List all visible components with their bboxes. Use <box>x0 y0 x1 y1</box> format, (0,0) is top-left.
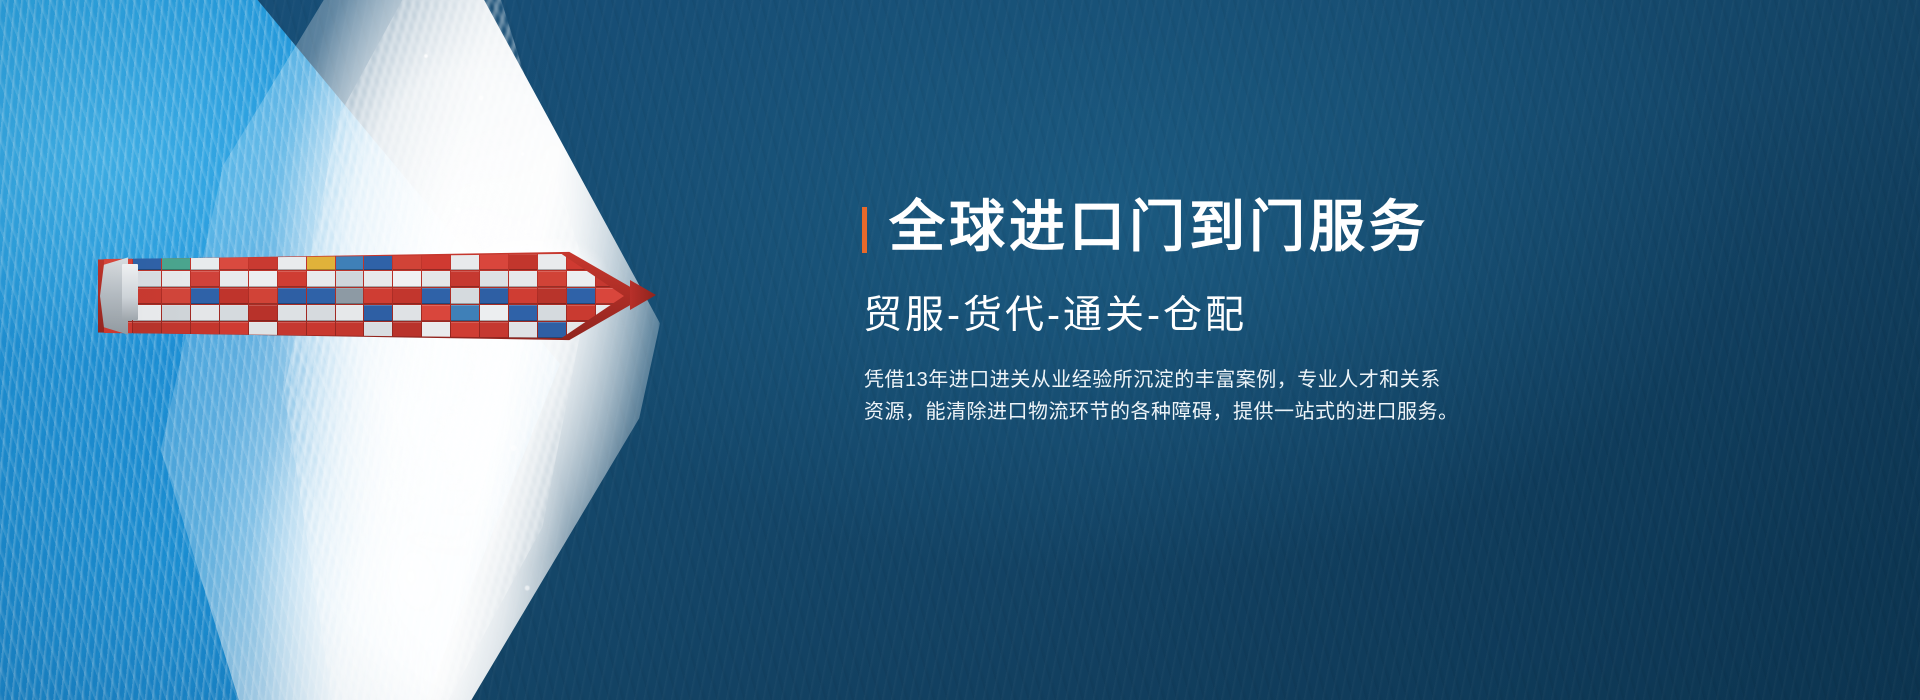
shipping-container <box>422 254 450 270</box>
container-stack <box>162 254 190 338</box>
description-line-2: 资源，能清除进口物流环节的各种障碍，提供一站式的进口服务。 <box>864 396 1562 428</box>
shipping-container <box>191 322 219 338</box>
shipping-container <box>451 305 479 321</box>
shipping-container <box>422 271 450 287</box>
shipping-container <box>336 288 364 304</box>
shipping-container <box>393 288 421 304</box>
shipping-container <box>480 288 508 304</box>
shipping-container <box>509 288 537 304</box>
shipping-container <box>220 288 248 304</box>
accent-bar <box>862 207 867 253</box>
shipping-container <box>509 271 537 287</box>
shipping-container <box>393 322 421 338</box>
shipping-container <box>364 271 392 287</box>
shipping-container <box>162 322 190 338</box>
shipping-container <box>393 254 421 270</box>
shipping-container <box>422 288 450 304</box>
shipping-container <box>364 288 392 304</box>
container-stack <box>249 254 277 338</box>
shipping-container <box>162 305 190 321</box>
shipping-container <box>220 271 248 287</box>
container-stack <box>336 254 364 338</box>
title-row: 全球进口门到门服务 <box>862 196 1562 259</box>
shipping-container <box>278 305 306 321</box>
container-stack <box>393 254 421 338</box>
shipping-container <box>220 322 248 338</box>
container-stack <box>191 254 219 338</box>
shipping-container <box>336 305 364 321</box>
shipping-container <box>278 288 306 304</box>
shipping-container <box>133 322 161 338</box>
page-description: 凭借13年进口进关从业经验所沉淀的丰富案例，专业人才和关系 资源，能清除进口物流… <box>864 364 1562 429</box>
shipping-container <box>596 254 624 270</box>
shipping-container <box>480 271 508 287</box>
shipping-container <box>220 254 248 270</box>
container-stack <box>364 254 392 338</box>
shipping-container <box>538 305 566 321</box>
shipping-container <box>249 305 277 321</box>
shipping-container <box>162 288 190 304</box>
container-stack <box>538 254 566 338</box>
shipping-container <box>393 305 421 321</box>
shipping-container <box>336 271 364 287</box>
shipping-container <box>480 322 508 338</box>
hero-text-block: 全球进口门到门服务 贸服-货代-通关-仓配 凭借13年进口进关从业经验所沉淀的丰… <box>862 196 1562 428</box>
container-stack <box>422 254 450 338</box>
shipping-container <box>509 305 537 321</box>
shipping-container <box>538 288 566 304</box>
shipping-container <box>162 271 190 287</box>
shipping-container <box>480 305 508 321</box>
shipping-container <box>538 271 566 287</box>
container-ship <box>98 248 646 344</box>
container-stack <box>451 254 479 338</box>
container-stack <box>509 254 537 338</box>
container-stack <box>596 254 624 338</box>
shipping-container <box>567 288 595 304</box>
page-subtitle: 贸服-货代-通关-仓配 <box>863 293 1562 340</box>
container-stack <box>278 254 306 338</box>
shipping-container <box>191 305 219 321</box>
container-deck <box>104 254 624 338</box>
shipping-container <box>364 305 392 321</box>
shipping-container <box>249 271 277 287</box>
shipping-container <box>191 271 219 287</box>
shipping-container <box>451 254 479 270</box>
shipping-container <box>249 254 277 270</box>
container-stack <box>307 254 335 338</box>
container-stack <box>480 254 508 338</box>
shipping-container <box>393 271 421 287</box>
shipping-container <box>538 254 566 270</box>
hero-banner: 全球进口门到门服务 贸服-货代-通关-仓配 凭借13年进口进关从业经验所沉淀的丰… <box>0 0 1920 700</box>
shipping-container <box>422 322 450 338</box>
shipping-container <box>278 271 306 287</box>
shipping-container <box>596 322 624 338</box>
ship-wake-spray <box>380 0 610 700</box>
shipping-container <box>480 254 508 270</box>
shipping-container <box>364 254 392 270</box>
description-line-1: 凭借13年进口进关从业经验所沉淀的丰富案例，专业人才和关系 <box>864 364 1562 396</box>
shipping-container <box>509 254 537 270</box>
shipping-container <box>191 288 219 304</box>
page-title: 全球进口门到门服务 <box>889 196 1429 259</box>
container-stack <box>220 254 248 338</box>
shipping-container <box>307 271 335 287</box>
shipping-container <box>220 305 248 321</box>
shipping-container <box>538 322 566 338</box>
shipping-container <box>451 288 479 304</box>
shipping-container <box>509 322 537 338</box>
shipping-container <box>249 322 277 338</box>
shipping-container <box>162 254 190 270</box>
shipping-container <box>307 305 335 321</box>
shipping-container <box>249 288 277 304</box>
shipping-container <box>364 322 392 338</box>
shipping-container <box>191 254 219 270</box>
shipping-container <box>451 322 479 338</box>
shipping-container <box>307 288 335 304</box>
shipping-container <box>451 271 479 287</box>
ship-bridge <box>122 264 138 320</box>
shipping-container <box>422 305 450 321</box>
